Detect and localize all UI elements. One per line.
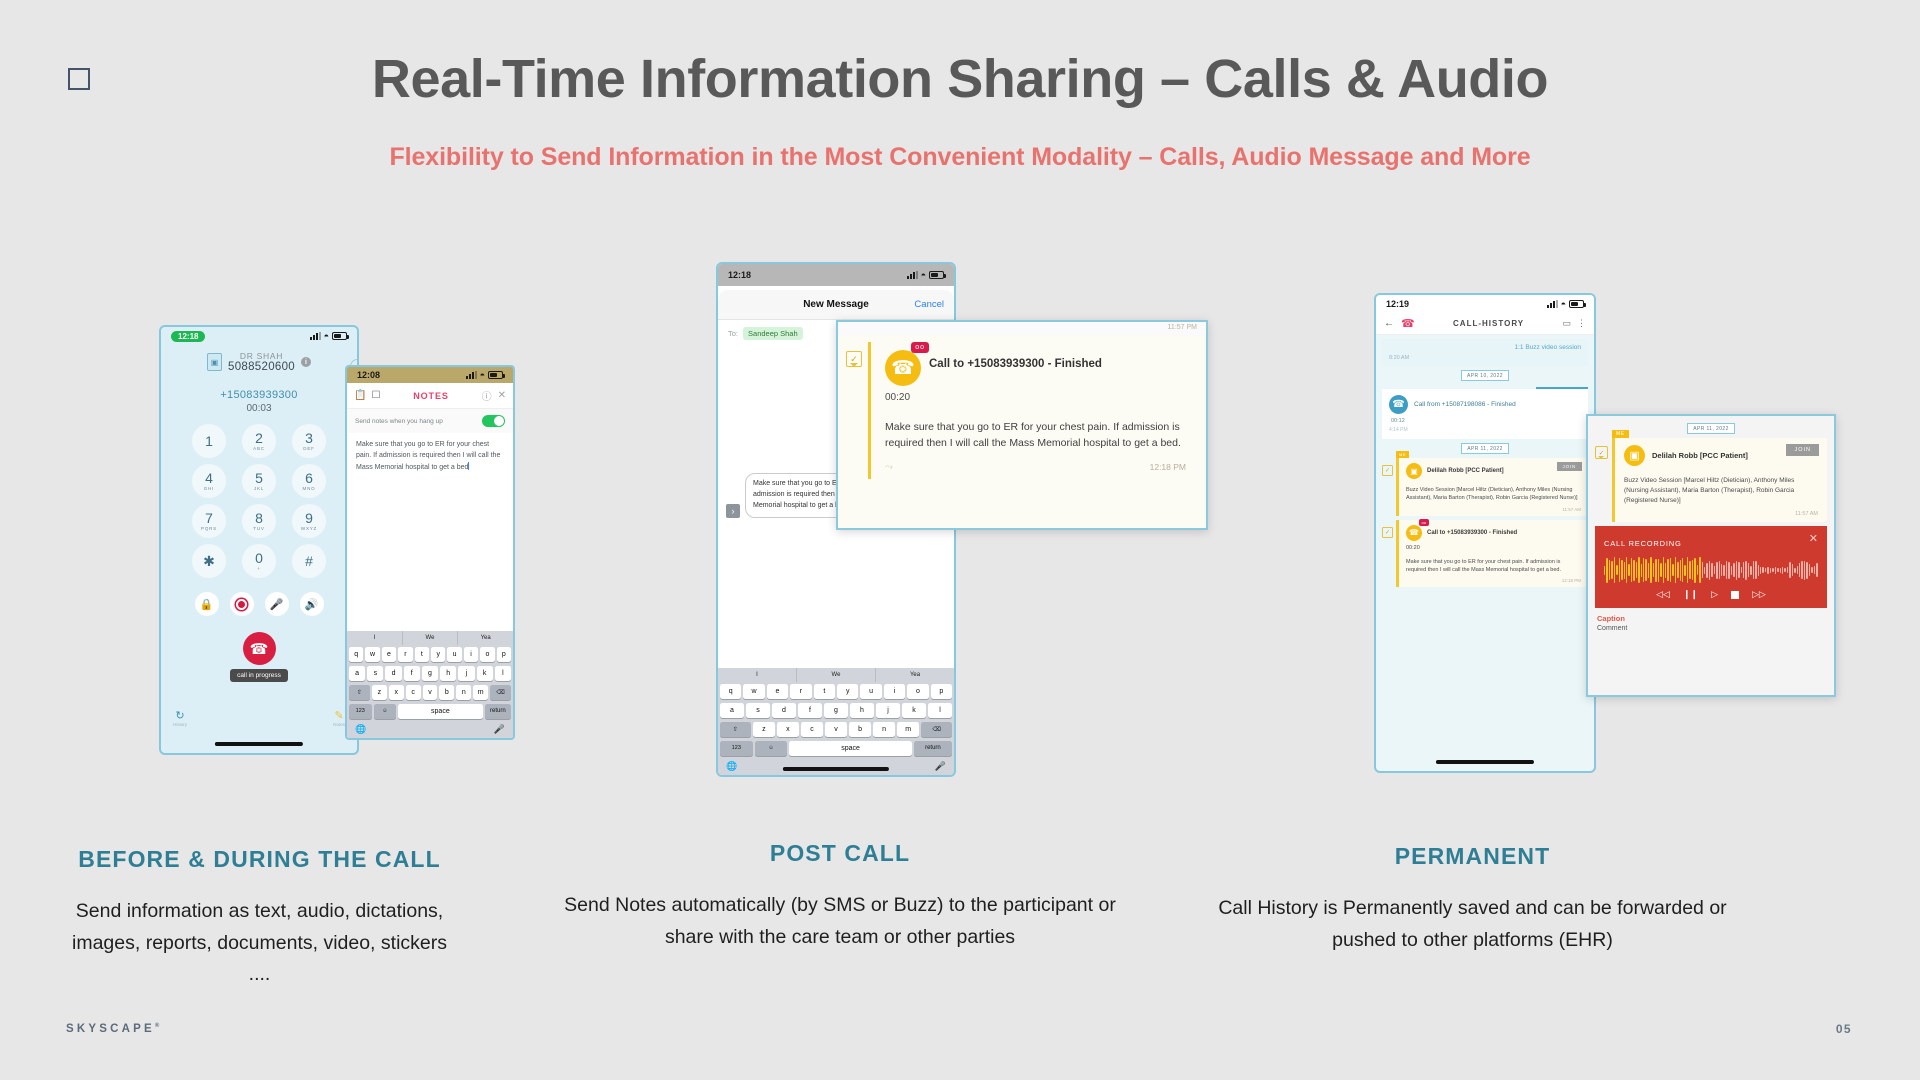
wifi-icon: ◓: [921, 270, 926, 280]
key-i[interactable]: i: [884, 684, 905, 699]
key-n[interactable]: n: [873, 722, 895, 737]
key-e[interactable]: e: [767, 684, 788, 699]
call-status-tooltip: call in progress: [230, 669, 288, 682]
prediction-bar[interactable]: IWeYea: [347, 631, 513, 645]
dial-key-1[interactable]: 1: [192, 424, 226, 458]
dial-key-6[interactable]: 6MNO: [292, 464, 326, 498]
key-u[interactable]: u: [860, 684, 881, 699]
key-a[interactable]: a: [349, 666, 365, 681]
dial-key-3[interactable]: 3DEF: [292, 424, 326, 458]
notes-keyboard[interactable]: IWeYea qwertyuiop asdfghjkl ⇧zxcvbnm⌫ 12…: [347, 631, 513, 738]
stop-button[interactable]: [1731, 591, 1739, 599]
waveform-bar: [1770, 568, 1771, 573]
tab-notes[interactable]: ✎ Notes: [333, 709, 345, 727]
battery-icon: [929, 271, 944, 279]
key-g[interactable]: g: [422, 666, 438, 681]
key-l[interactable]: l: [495, 666, 511, 681]
waveform-bar: [1702, 562, 1703, 578]
checkbox-icon[interactable]: ✓: [1595, 446, 1608, 459]
key-⌫[interactable]: ⌫: [921, 722, 952, 737]
cancel-button[interactable]: Cancel: [914, 299, 944, 310]
bottom-tab-bar: ↻ History ✎ Notes: [161, 709, 357, 727]
keyboard-row-1[interactable]: qwertyuiop: [347, 645, 513, 664]
dial-key-9[interactable]: 9WXYZ: [292, 504, 326, 538]
card-top-time: 11:57 PM: [1168, 324, 1197, 331]
session-label: 1:1 Buzz video session: [1389, 344, 1581, 351]
tab-notes-label: Notes: [333, 722, 345, 727]
waveform-bar: [1782, 567, 1783, 574]
dictation-microphone-icon[interactable]: 🎤: [935, 761, 946, 772]
join-button[interactable]: JOIN: [1557, 462, 1582, 471]
play-button[interactable]: ▷: [1711, 589, 1718, 600]
waveform-bar: [1699, 557, 1700, 582]
phone-icon[interactable]: ☎: [1401, 317, 1415, 330]
close-icon[interactable]: ✕: [498, 390, 506, 401]
keyboard-bottom-row[interactable]: 🌐 🎤: [347, 721, 513, 735]
key-o[interactable]: o: [907, 684, 928, 699]
key-m[interactable]: m: [473, 685, 488, 700]
card-footer: ⤳ 12:18 PM: [885, 462, 1186, 473]
key-emoji[interactable]: ☺: [374, 704, 397, 719]
dial-key-digit: 5: [255, 471, 263, 485]
key-z[interactable]: z: [372, 685, 387, 700]
dialed-number: +15083939300: [161, 389, 357, 401]
waveform-bar: [1628, 564, 1629, 576]
notes-toggle-label: Send notes when you hang up: [355, 418, 443, 425]
key-a[interactable]: a: [720, 703, 744, 718]
overflow-menu-icon[interactable]: ⋮: [1577, 318, 1586, 329]
key-b[interactable]: b: [439, 685, 454, 700]
dial-key-digit: 4: [205, 471, 213, 485]
key-y[interactable]: y: [837, 684, 858, 699]
status-bar: 12:19 ◓: [1376, 295, 1594, 313]
waveform-bar: [1797, 566, 1798, 574]
waveform-bar: [1653, 563, 1654, 577]
slide: Real-Time Information Sharing – Calls & …: [0, 0, 1920, 1080]
waveform-bar: [1694, 558, 1695, 583]
incoming-call-title: Call from +15087198086 - Finished: [1414, 401, 1516, 408]
comment-label: Comment: [1588, 623, 1834, 632]
key-f[interactable]: f: [404, 666, 420, 681]
waveform-bar: [1792, 564, 1793, 575]
call-history-title: CALL-HISTORY: [1453, 319, 1524, 328]
message-keyboard[interactable]: IWeYea qwertyuiop asdfghjkl ⇧zxcvbnm⌫ 12…: [718, 668, 954, 775]
dial-key-digit: ✱: [203, 554, 215, 568]
waveform-bar: [1626, 557, 1627, 583]
prediction-bar[interactable]: IWeYea: [718, 668, 954, 682]
key-space[interactable]: space: [398, 704, 483, 719]
waveform-bar: [1816, 563, 1817, 577]
outgoing-call-icon: ☎ oo: [885, 350, 921, 386]
microphone-icon[interactable]: 🎤: [265, 592, 289, 616]
key-⇧[interactable]: ⇧: [349, 685, 370, 700]
status-indicators: ◓: [907, 270, 944, 280]
participant-name: Delilah Robb [PCC Patient]: [1652, 451, 1748, 460]
waveform-bar: [1738, 562, 1739, 578]
call-action-row: 🔒 🎤 🔊: [161, 592, 357, 616]
key-return[interactable]: return: [485, 704, 511, 719]
dial-key-digit: #: [305, 554, 313, 568]
dial-key-letters: GHI: [204, 486, 214, 491]
contact-number: 5088520600: [228, 361, 295, 373]
pause-button[interactable]: ❙❙: [1683, 589, 1698, 600]
waveform-bar: [1806, 562, 1807, 579]
me-tag: ME: [1396, 451, 1409, 458]
waveform-bar: [1767, 567, 1768, 574]
waveform-bar: [1723, 565, 1724, 576]
speaker-icon[interactable]: 🔊: [300, 592, 324, 616]
key-e[interactable]: e: [382, 647, 396, 662]
video-session-message[interactable]: ✓ ME JOIN ▣ Delilah Robb [PCC Patient] B…: [1382, 458, 1588, 516]
key-u[interactable]: u: [447, 647, 461, 662]
waveform-bar: [1719, 561, 1720, 580]
notes-header-icons: 📋 ☐: [354, 390, 380, 401]
outgoing-call-body: ☎ oo Call to +15083939300 - Finished 00:…: [1396, 520, 1588, 588]
phone-call-screen: 12:18 ◓ ▣ DR SHAH 5088520600 i ⌄ +150839…: [159, 325, 359, 755]
notes-toggle-row[interactable]: Send notes when you hang up: [347, 409, 513, 433]
key-p[interactable]: p: [931, 684, 952, 699]
status-indicators: ◓: [1547, 299, 1584, 309]
waveform-bar: [1777, 568, 1778, 572]
dial-key-5[interactable]: 5JKL: [242, 464, 276, 498]
waveform-bar: [1741, 567, 1742, 573]
notes-header-actions: ⓘ ✕: [482, 388, 506, 403]
key-o[interactable]: o: [480, 647, 494, 662]
record-button[interactable]: [230, 592, 254, 616]
dial-key-letters: MNO: [303, 486, 316, 491]
key-d[interactable]: d: [385, 666, 401, 681]
call-card-title: Call to +15083939300 - Finished: [929, 358, 1102, 370]
home-indicator: [783, 767, 889, 771]
new-message-header: New Message Cancel: [718, 290, 954, 319]
waveform-bar: [1638, 557, 1639, 583]
brand-logo: SKYSCAPE®: [66, 1023, 159, 1035]
keyboard-row-4[interactable]: 123 ☺ space return: [718, 739, 954, 758]
waveform-bar: [1753, 561, 1754, 578]
outgoing-call-note: Make sure that you go to ER for your che…: [1406, 558, 1581, 575]
back-arrow-icon[interactable]: ←: [1384, 318, 1394, 329]
waveform-bar: [1799, 563, 1800, 577]
waveform-bar: [1762, 567, 1763, 572]
outgoing-call-message[interactable]: ✓ ☎ oo Call to +15083939300 - Finished 0…: [1382, 520, 1588, 588]
key-s[interactable]: s: [746, 703, 770, 718]
key-q[interactable]: q: [349, 647, 363, 662]
notes-status-indicators: ◓: [466, 370, 503, 380]
notes-text: Make sure that you go to ER for your che…: [356, 441, 500, 471]
waveform-bar: [1682, 558, 1683, 582]
key-n[interactable]: n: [456, 685, 471, 700]
dial-key-digit: 0: [255, 551, 263, 565]
key-s[interactable]: s: [367, 666, 383, 681]
dial-key-digit: 9: [305, 511, 313, 525]
key-space[interactable]: space: [789, 741, 912, 756]
info-icon[interactable]: ⓘ: [482, 388, 492, 403]
dial-key-4[interactable]: 4GHI: [192, 464, 226, 498]
dial-key-letters: WXYZ: [301, 526, 317, 531]
waveform-bar: [1794, 568, 1795, 573]
video-session-time: 11:57 AM: [1406, 507, 1581, 512]
keyboard-row-3[interactable]: ⇧zxcvbnm⌫: [347, 683, 513, 702]
tab-history-label: History: [173, 722, 187, 727]
waveform-bar: [1621, 560, 1622, 580]
send-notes-toggle[interactable]: [482, 415, 505, 427]
history-icon: ↻: [175, 709, 184, 722]
video-camera-icon: ▣: [1624, 445, 1645, 466]
prediction-i[interactable]: I: [347, 631, 403, 645]
outgoing-call-duration: 00:20: [1406, 545, 1581, 551]
key-d[interactable]: d: [772, 703, 796, 718]
waveform-bar: [1641, 564, 1642, 577]
key-z[interactable]: z: [753, 722, 775, 737]
key-p[interactable]: p: [497, 647, 511, 662]
waveform-bar: [1804, 561, 1805, 580]
key-w[interactable]: w: [743, 684, 764, 699]
waveform-bar: [1811, 567, 1812, 573]
key-i[interactable]: i: [464, 647, 478, 662]
key-g[interactable]: g: [824, 703, 848, 718]
list-item[interactable]: ☎ Call from +15087198086 - Finished 00:1…: [1382, 389, 1588, 439]
prediction-we[interactable]: We: [403, 631, 459, 645]
date-separator: APR 11, 2022: [1687, 423, 1735, 434]
waveform-bar: [1672, 564, 1673, 577]
keyboard-row-2[interactable]: asdfghjkl: [718, 701, 954, 720]
waveform-bar: [1633, 560, 1634, 581]
card-inner: ✓ ☎ oo Call to +15083939300 - Finished 0…: [838, 336, 1206, 479]
session-time: 8:20 AM: [1389, 355, 1581, 361]
key-x[interactable]: x: [777, 722, 799, 737]
share-icon[interactable]: ⤳: [885, 462, 893, 473]
chat-icon[interactable]: ▭: [1562, 318, 1571, 329]
waveform-bar: [1609, 560, 1610, 579]
checkbox-icon[interactable]: ✓: [1382, 527, 1393, 538]
signal-icon: [1547, 300, 1558, 308]
waveform-bar: [1789, 562, 1790, 578]
me-tag: ME: [1612, 430, 1629, 438]
notes-status-time: 12:08: [357, 370, 380, 380]
keyboard-row-4[interactable]: 123 ☺ space return: [347, 702, 513, 721]
key-k[interactable]: k: [477, 666, 493, 681]
globe-icon[interactable]: 🌐: [726, 761, 737, 772]
prediction-yea[interactable]: Yea: [876, 668, 954, 682]
key-⌫[interactable]: ⌫: [490, 685, 511, 700]
caption-post-call: POST CALL Send Notes automatically (by S…: [560, 840, 1120, 953]
waveform-bar: [1728, 562, 1729, 579]
text-caret: [468, 462, 469, 470]
header-right: ▭ ⋮: [1562, 318, 1586, 329]
prediction-we[interactable]: We: [797, 668, 876, 682]
dictation-microphone-icon[interactable]: 🎤: [494, 724, 505, 735]
status-bar: 12:18 ◓: [161, 327, 357, 345]
dial-key-7[interactable]: 7PQRS: [192, 504, 226, 538]
waveform-bar: [1687, 557, 1688, 583]
key-w[interactable]: w: [365, 647, 379, 662]
waveform-bar: [1697, 565, 1698, 575]
recording-message: ✓ ME JOIN ▣ Delilah Robb [PCC Patient] B…: [1588, 438, 1834, 522]
dial-key-letters: DEF: [303, 446, 314, 451]
join-button[interactable]: JOIN: [1786, 444, 1819, 456]
key-emoji[interactable]: ☺: [755, 741, 788, 756]
checkbox-icon[interactable]: ✓: [1382, 465, 1393, 476]
status-indicators: ◓: [310, 331, 347, 341]
wifi-icon: ◓: [1561, 299, 1566, 309]
recording-message-body: ME JOIN ▣ Delilah Robb [PCC Patient] Buz…: [1612, 438, 1827, 522]
dial-key-0[interactable]: 0+: [242, 544, 276, 578]
notes-text-area[interactable]: Make sure that you go to ER for your che…: [347, 433, 513, 481]
key-return[interactable]: return: [914, 741, 952, 756]
dial-keypad[interactable]: 12ABC3DEF4GHI5JKL6MNO7PQRS8TUV9WXYZ✱0+#: [184, 424, 334, 578]
notes-header: 📋 ☐ NOTES ⓘ ✕: [347, 383, 513, 409]
list-item[interactable]: 1:1 Buzz video session 8:20 AM: [1382, 339, 1588, 366]
recording-session-time: 11:57 AM: [1624, 511, 1818, 517]
fast-forward-button[interactable]: ▷▷: [1752, 589, 1766, 600]
call-recording-player: CALL RECORDING ✕ ◁◁❙❙▷▷▷: [1595, 526, 1827, 608]
caption-heading: BEFORE & DURING THE CALL: [62, 846, 457, 873]
dial-key-digit: 6: [305, 471, 313, 485]
key-f[interactable]: f: [798, 703, 822, 718]
key-v[interactable]: v: [825, 722, 847, 737]
home-indicator: [215, 742, 303, 746]
waveform-bar: [1665, 563, 1666, 578]
info-icon[interactable]: i: [301, 357, 311, 367]
dial-key-8[interactable]: 8TUV: [242, 504, 276, 538]
page-title: Real-Time Information Sharing – Calls & …: [0, 48, 1920, 110]
waveform-bar: [1731, 566, 1732, 575]
waveform-bar: [1684, 565, 1685, 576]
audio-waveform[interactable]: [1604, 556, 1818, 584]
dial-key-#[interactable]: #: [292, 544, 326, 578]
header-left: ← ☎: [1384, 317, 1415, 330]
waveform-bar: [1619, 558, 1620, 583]
waveform-bar: [1706, 563, 1707, 578]
lock-rotate-icon[interactable]: 🔒: [195, 592, 219, 616]
waveform-bar: [1616, 565, 1617, 575]
dial-key-digit: 2: [255, 431, 263, 445]
globe-icon[interactable]: 🌐: [355, 724, 366, 735]
rewind-button[interactable]: ◁◁: [1656, 589, 1670, 600]
signal-icon: [907, 271, 918, 279]
key-h[interactable]: h: [440, 666, 456, 681]
home-indicator: [1436, 760, 1534, 764]
key-j[interactable]: j: [458, 666, 474, 681]
dial-key-✱[interactable]: ✱: [192, 544, 226, 578]
dial-key-digit: 3: [305, 431, 313, 445]
waveform-bar: [1814, 566, 1815, 573]
date-separator: APR 10, 2022: [1461, 370, 1509, 381]
waveform-bar: [1648, 563, 1649, 578]
caption-label: Caption: [1588, 608, 1834, 623]
key-x[interactable]: x: [389, 685, 404, 700]
waveform-bar: [1745, 561, 1746, 580]
key-t[interactable]: t: [814, 684, 835, 699]
key-y[interactable]: y: [431, 647, 445, 662]
keyboard-row-1[interactable]: qwertyuiop: [718, 682, 954, 701]
key-r[interactable]: r: [790, 684, 811, 699]
contact-text: DR SHAH 5088520600: [228, 351, 295, 373]
signal-icon: [310, 332, 321, 340]
key-c[interactable]: c: [801, 722, 823, 737]
end-call-button[interactable]: ☎: [243, 632, 276, 665]
page-subtitle: Flexibility to Send Information in the M…: [0, 143, 1920, 172]
key-q[interactable]: q: [720, 684, 741, 699]
key-r[interactable]: r: [398, 647, 412, 662]
clipboard-icon[interactable]: 📋: [354, 390, 366, 401]
caption-body: Send Notes automatically (by SMS or Buzz…: [560, 890, 1120, 953]
video-session-text: Buzz Video Session [Marcel Hiltz (Dietic…: [1406, 486, 1581, 503]
recipient-chip[interactable]: Sandeep Shah: [743, 327, 803, 340]
key-v[interactable]: v: [423, 685, 438, 700]
key-h[interactable]: h: [850, 703, 874, 718]
page-number: 05: [1836, 1022, 1852, 1036]
close-icon[interactable]: ✕: [1809, 532, 1818, 545]
outgoing-call-head: ☎ oo Call to +15083939300 - Finished: [1406, 525, 1581, 541]
playback-controls[interactable]: ◁◁❙❙▷▷▷: [1604, 589, 1818, 600]
notes-status-bar: 12:08 ◓: [347, 367, 513, 383]
dial-key-digit: 7: [205, 511, 213, 525]
phone-call-history-screen: 12:19 ◓ ← ☎ CALL-HISTORY ▭ ⋮ 1:1 Buzz vi…: [1374, 293, 1596, 773]
caption-body: Send information as text, audio, dictati…: [62, 896, 457, 991]
caption-before-during-call: BEFORE & DURING THE CALL Send informatio…: [62, 846, 457, 991]
keyboard-row-3[interactable]: ⇧zxcvbnm⌫: [718, 720, 954, 739]
video-camera-icon: ▣: [1406, 463, 1422, 479]
waveform-bar: [1760, 567, 1761, 574]
call-recording-label: CALL RECORDING: [1604, 539, 1682, 548]
checkbox-icon[interactable]: ✓: [846, 351, 862, 367]
key-k[interactable]: k: [902, 703, 926, 718]
key-123[interactable]: 123: [720, 741, 753, 756]
dial-key-letters: PQRS: [201, 526, 217, 531]
waveform-bar: [1775, 567, 1776, 574]
keyboard-row-2[interactable]: asdfghjkl: [347, 664, 513, 683]
waveform-bar: [1611, 561, 1612, 579]
key-b[interactable]: b: [849, 722, 871, 737]
new-message-title: New Message: [803, 299, 869, 310]
incoming-call-block: CALL-HISTORY ☎ Call from +15087198086 - …: [1382, 389, 1588, 439]
key-j[interactable]: j: [876, 703, 900, 718]
call-card-timestamp: 12:18 PM: [1150, 462, 1186, 472]
outgoing-call-time: 12:18 PM: [1406, 578, 1581, 583]
waveform-bar: [1645, 559, 1646, 581]
caption-heading: PERMANENT: [1200, 843, 1745, 870]
prediction-i[interactable]: I: [718, 668, 797, 682]
key-t[interactable]: t: [415, 647, 429, 662]
battery-icon: [488, 371, 503, 379]
dial-key-letters: ABC: [253, 446, 265, 451]
status-time: 12:18: [728, 270, 751, 280]
attachment-expand-icon[interactable]: ›: [726, 504, 740, 518]
key-c[interactable]: c: [406, 685, 421, 700]
waveform-bar: [1733, 563, 1734, 577]
waveform-bar: [1614, 557, 1615, 583]
incoming-call-icon: ☎: [1389, 395, 1408, 414]
tab-history[interactable]: ↻ History: [173, 709, 187, 727]
waveform-bar: [1721, 564, 1722, 576]
caption-heading: POST CALL: [560, 840, 1120, 867]
waveform-bar: [1809, 564, 1810, 576]
waveform-bar: [1709, 561, 1710, 580]
waveform-bar: [1636, 562, 1637, 578]
prediction-yea[interactable]: Yea: [458, 631, 513, 645]
key-l[interactable]: l: [928, 703, 952, 718]
send-message-icon[interactable]: ☐: [371, 390, 380, 401]
waveform-bar: [1714, 566, 1715, 574]
key-⇧[interactable]: ⇧: [720, 722, 751, 737]
waveform-bar: [1670, 558, 1671, 582]
waveform-bar: [1780, 568, 1781, 573]
key-m[interactable]: m: [897, 722, 919, 737]
key-123[interactable]: 123: [349, 704, 372, 719]
card-body: ☎ oo Call to +15083939300 - Finished 00:…: [868, 342, 1198, 479]
dial-key-2[interactable]: 2ABC: [242, 424, 276, 458]
